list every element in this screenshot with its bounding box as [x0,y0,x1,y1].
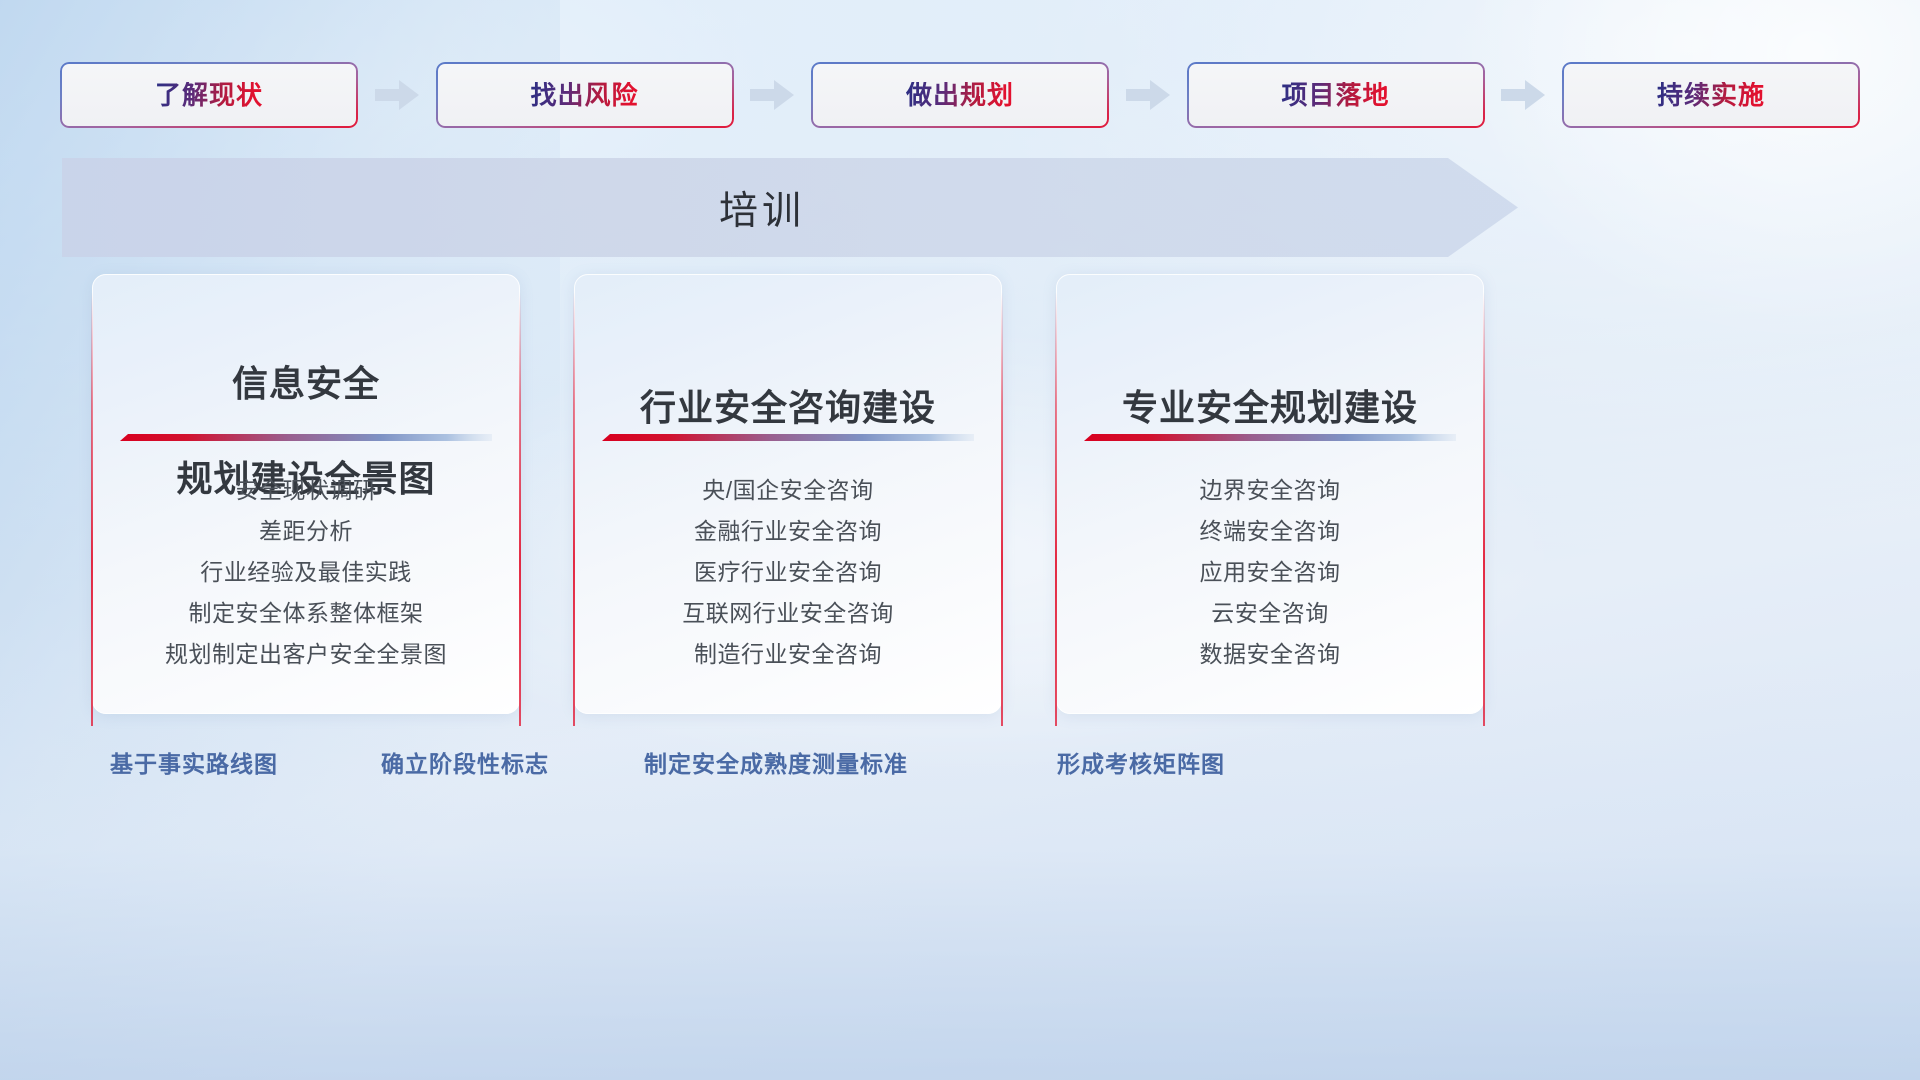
chevron-right-arrow-icon [750,80,794,110]
card-list-item: 互联网行业安全咨询 [574,593,1002,634]
card-title-2-line1: 行业安全咨询建设 [574,384,1002,432]
step-arrow-4 [1485,80,1563,110]
step-box-4[interactable]: 项目落地 [1187,62,1485,128]
card-list-item: 应用安全咨询 [1056,552,1484,593]
step-box-1[interactable]: 了解现状 [60,62,358,128]
card-list-item: 终端安全咨询 [1056,511,1484,552]
card-list-item: 数据安全咨询 [1056,634,1484,675]
card-list-item: 云安全咨询 [1056,593,1484,634]
step-label-2: 找出风险 [530,82,638,108]
chevron-right-arrow-icon [375,80,419,110]
card-list-item: 安全现状调研 [92,470,520,511]
step-label-5: 持续实施 [1657,82,1765,108]
consulting-cards-row: 信息安全 规划建设全景图 安全现状调研 差距分析 行业经验及最佳实践 制定安全体… [92,274,1484,714]
footer-label-2: 确立阶段性标志 [381,742,549,786]
card-list-item: 金融行业安全咨询 [574,511,1002,552]
card-list-item: 央/国企安全咨询 [574,470,1002,511]
card-divider-1 [120,434,492,443]
step-box-2[interactable]: 找出风险 [436,62,734,128]
background-wash-bottom [0,660,1920,1080]
footer-label-4: 形成考核矩阵图 [1057,742,1225,786]
step-arrow-3 [1109,80,1187,110]
footer-label-1: 基于事实路线图 [110,742,278,786]
chevron-right-arrow-icon [1126,80,1170,110]
card-list-item: 行业经验及最佳实践 [92,552,520,593]
footer-label-3: 制定安全成熟度测量标准 [644,742,908,786]
card-list-item: 规划制定出客户安全全景图 [92,634,520,675]
card-title-3-line1: 专业安全规划建设 [1056,384,1484,432]
step-box-3[interactable]: 做出规划 [811,62,1109,128]
card-list-3: 边界安全咨询 终端安全咨询 应用安全咨询 云安全咨询 数据安全咨询 [1056,470,1484,675]
card-list-item: 医疗行业安全咨询 [574,552,1002,593]
step-arrow-2 [734,80,812,110]
card-title-3: 专业安全规划建设 [1056,336,1484,479]
chevron-right-arrow-icon [1501,80,1545,110]
card-list-1: 安全现状调研 差距分析 行业经验及最佳实践 制定安全体系整体框架 规划制定出客户… [92,470,520,675]
card-list-item: 制定安全体系整体框架 [92,593,520,634]
step-arrow-1 [358,80,436,110]
step-label-4: 项目落地 [1281,82,1389,108]
card-title-2: 行业安全咨询建设 [574,336,1002,479]
card-list-item: 边界安全咨询 [1056,470,1484,511]
card-divider-3 [1084,434,1456,443]
step-box-5[interactable]: 持续实施 [1562,62,1860,128]
card-title-1-line1: 信息安全 [92,360,520,408]
card-list-2: 央/国企安全咨询 金融行业安全咨询 医疗行业安全咨询 互联网行业安全咨询 制造行… [574,470,1002,675]
training-banner-title: 培训 [62,158,1462,257]
card-list-item: 制造行业安全咨询 [574,634,1002,675]
step-label-1: 了解现状 [155,82,263,108]
training-banner: 培训 [62,158,1518,257]
card-information-security-blueprint[interactable]: 信息安全 规划建设全景图 安全现状调研 差距分析 行业经验及最佳实践 制定安全体… [92,274,520,714]
footer-label-row: 基于事实路线图 确立阶段性标志 制定安全成熟度测量标准 形成考核矩阵图 [0,742,1920,786]
card-divider-2 [602,434,974,443]
card-list-item: 差距分析 [92,511,520,552]
process-step-row: 了解现状 找出风险 做出规划 项目落地 持续实施 [60,61,1860,129]
card-industry-security-consulting[interactable]: 行业安全咨询建设 央/国企安全咨询 金融行业安全咨询 医疗行业安全咨询 互联网行… [574,274,1002,714]
step-label-3: 做出规划 [906,82,1014,108]
card-professional-security-planning[interactable]: 专业安全规划建设 边界安全咨询 终端安全咨询 应用安全咨询 云安全咨询 数据安全… [1056,274,1484,714]
